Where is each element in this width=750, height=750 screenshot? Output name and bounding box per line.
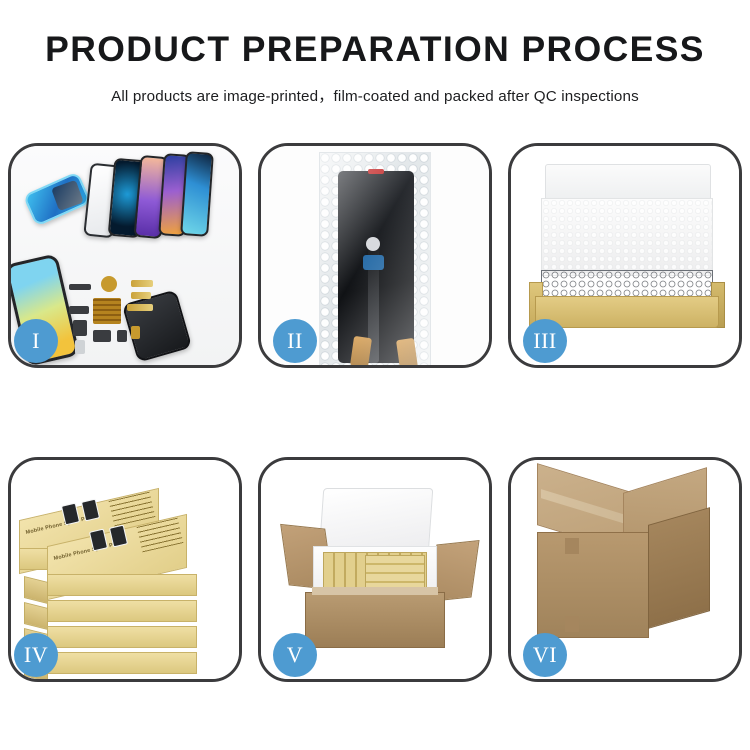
phone-screen-5 [180, 151, 214, 237]
step-badge-4: IV [14, 633, 58, 677]
carton-body [305, 592, 445, 648]
box-front-panel [535, 296, 719, 328]
step-card-4: Mobile Phone Spare Parts Mobile Phone Sp… [8, 457, 242, 682]
box-layer-3 [47, 626, 197, 648]
carton-front-face [537, 532, 649, 638]
header: PRODUCT PREPARATION PROCESS All products… [0, 0, 750, 128]
step-card-2: II [258, 143, 492, 368]
step-card-6: VI [508, 457, 742, 682]
step-badge-3: III [523, 319, 567, 363]
box-layer-1 [47, 574, 197, 596]
page-subtitle: All products are image-printed，film-coat… [111, 84, 639, 106]
plastic-sheen-overlay [320, 153, 430, 367]
foam-lid [319, 488, 434, 554]
spare-parts-cluster [69, 276, 187, 360]
step-badge-1: I [14, 319, 58, 363]
box-layer-2 [47, 600, 197, 622]
box-layer-4 [47, 652, 197, 674]
carton-handle-notch-bottom [565, 616, 579, 632]
step-card-3: III [508, 143, 742, 368]
product-preparation-infographic: PRODUCT PREPARATION PROCESS All products… [0, 0, 750, 750]
bubble-wrap-bag [319, 152, 431, 368]
process-steps-grid: I II [8, 143, 742, 682]
step-card-5: V [258, 457, 492, 682]
carton-side-face [648, 507, 710, 629]
page-title: PRODUCT PREPARATION PROCESS [45, 32, 705, 68]
carton-handle-notch-top [565, 538, 579, 554]
gold-boxes-row-2 [365, 555, 425, 591]
blue-film-part [23, 171, 92, 226]
step-card-1: I [8, 143, 242, 368]
step-badge-5: V [273, 633, 317, 677]
step-badge-2: II [273, 319, 317, 363]
step-badge-6: VI [523, 633, 567, 677]
white-foam-sheet [541, 198, 713, 276]
